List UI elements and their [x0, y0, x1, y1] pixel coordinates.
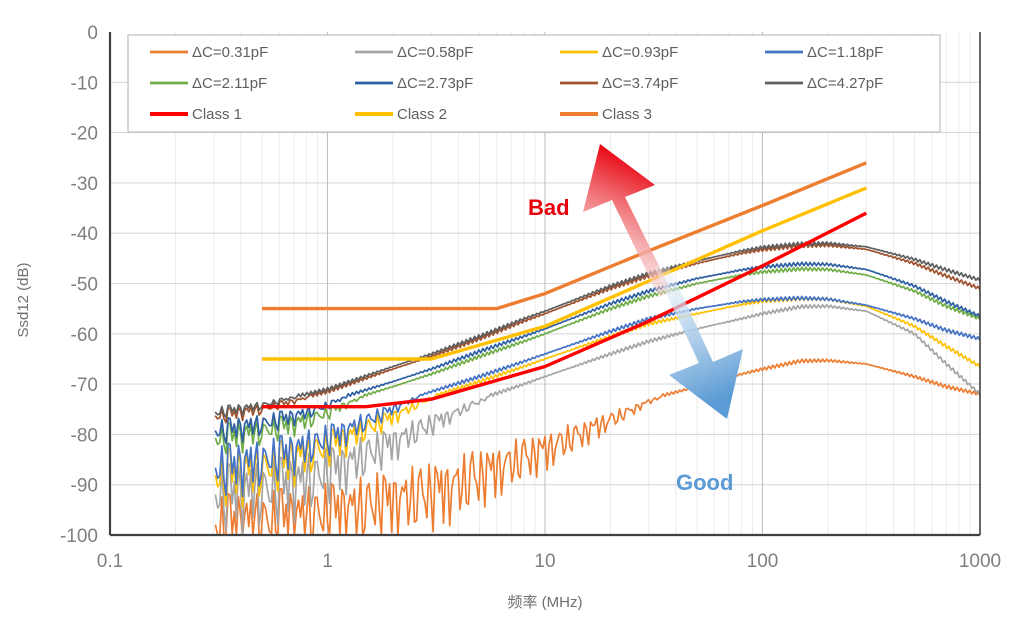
y-tick-label: 0 — [87, 23, 98, 44]
legend-label: ΔC=2.73pF — [397, 75, 473, 92]
x-tick-label: 0.1 — [97, 551, 123, 572]
x-axis-title: 频率 (MHz) — [508, 594, 583, 611]
legend-label: ΔC=1.18pF — [807, 44, 883, 61]
y-tick-label: -30 — [71, 174, 98, 195]
legend-label: ΔC=0.93pF — [602, 44, 678, 61]
y-tick-label: -20 — [71, 124, 98, 145]
x-tick-label: 10 — [534, 551, 555, 572]
legend-label: ΔC=0.58pF — [397, 44, 473, 61]
legend-label: ΔC=3.74pF — [602, 75, 678, 92]
legend-label: Class 1 — [192, 106, 242, 123]
x-tick-label: 1 — [322, 551, 333, 572]
legend-label: Class 3 — [602, 106, 652, 123]
y-tick-label: -50 — [71, 275, 98, 296]
y-tick-label: -40 — [71, 224, 98, 245]
x-tick-label: 1000 — [959, 551, 1001, 572]
legend-label: ΔC=0.31pF — [192, 44, 268, 61]
x-tick-label: 100 — [747, 551, 779, 572]
y-tick-label: -80 — [71, 425, 98, 446]
legend-label: Class 2 — [397, 106, 447, 123]
chart-plot: Bad Good 0-10-20-30-40-50-60-70-80-90-10… — [0, 0, 1031, 632]
y-tick-label: -90 — [71, 476, 98, 497]
y-tick-label: -60 — [71, 325, 98, 346]
y-axis-title: Ssd12 (dB) — [15, 262, 32, 337]
chart-container: Bad Good 0-10-20-30-40-50-60-70-80-90-10… — [0, 0, 1031, 632]
chart-legend: ΔC=0.31pFΔC=0.58pFΔC=0.93pFΔC=1.18pFΔC=2… — [128, 35, 940, 132]
bad-label: Bad — [528, 195, 570, 220]
legend-label: ΔC=2.11pF — [192, 75, 267, 92]
good-label: Good — [676, 470, 733, 495]
y-tick-label: -100 — [60, 526, 98, 547]
legend-label: ΔC=4.27pF — [807, 75, 883, 92]
y-tick-label: -10 — [71, 73, 98, 94]
y-tick-label: -70 — [71, 375, 98, 396]
